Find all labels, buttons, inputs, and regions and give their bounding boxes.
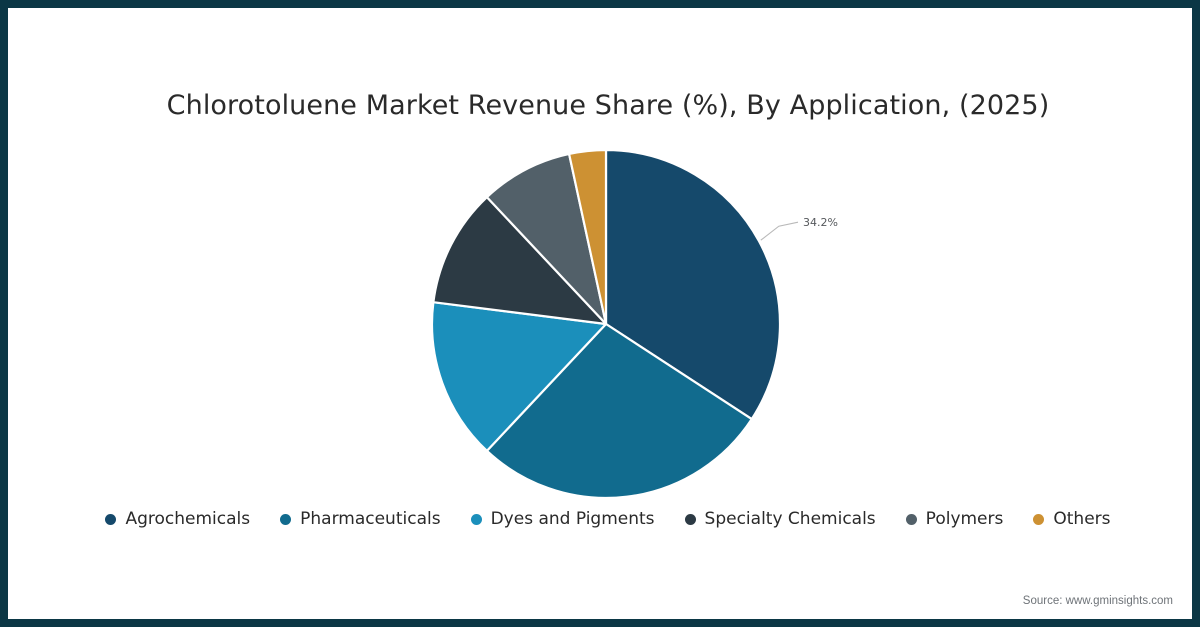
pie-slice-pharmaceuticals[interactable] <box>487 324 752 498</box>
legend-item-label: Polymers <box>926 511 1004 528</box>
chart-legend: AgrochemicalsPharmaceuticalsDyes and Pig… <box>8 511 1200 528</box>
legend-item-polymers[interactable]: Polymers <box>906 511 1004 528</box>
legend-swatch-icon <box>280 514 291 525</box>
legend-item-others[interactable]: Others <box>1033 511 1110 528</box>
pie-slice-dyes-and-pigments[interactable] <box>432 302 606 451</box>
legend-item-label: Specialty Chemicals <box>705 511 876 528</box>
pie-slice-specialty-chemicals[interactable] <box>433 197 606 324</box>
pie-labels-group: 34.2% <box>761 216 838 240</box>
chart-frame: Chlorotoluene Market Revenue Share (%), … <box>0 0 1200 627</box>
source-attribution: Source: www.gminsights.com <box>1023 595 1173 607</box>
pie-slice-agrochemicals[interactable] <box>606 150 780 419</box>
legend-item-label: Agrochemicals <box>125 511 250 528</box>
legend-item-label: Dyes and Pigments <box>491 511 655 528</box>
legend-item-specialty-chemicals[interactable]: Specialty Chemicals <box>685 511 876 528</box>
chart-title: Chlorotoluene Market Revenue Share (%), … <box>8 90 1200 121</box>
legend-swatch-icon <box>105 514 116 525</box>
callout-leader-line <box>761 222 798 240</box>
legend-swatch-icon <box>685 514 696 525</box>
slice-value-label-agrochemicals: 34.2% <box>803 216 838 229</box>
legend-swatch-icon <box>906 514 917 525</box>
legend-item-dyes-and-pigments[interactable]: Dyes and Pigments <box>471 511 655 528</box>
legend-item-pharmaceuticals[interactable]: Pharmaceuticals <box>280 511 440 528</box>
pie-slice-others[interactable] <box>569 150 606 324</box>
legend-item-label: Pharmaceuticals <box>300 511 440 528</box>
legend-item-agrochemicals[interactable]: Agrochemicals <box>105 511 250 528</box>
legend-swatch-icon <box>471 514 482 525</box>
pie-slice-polymers[interactable] <box>487 154 606 324</box>
legend-item-label: Others <box>1053 511 1110 528</box>
legend-swatch-icon <box>1033 514 1044 525</box>
pie-slices-group <box>432 150 780 498</box>
